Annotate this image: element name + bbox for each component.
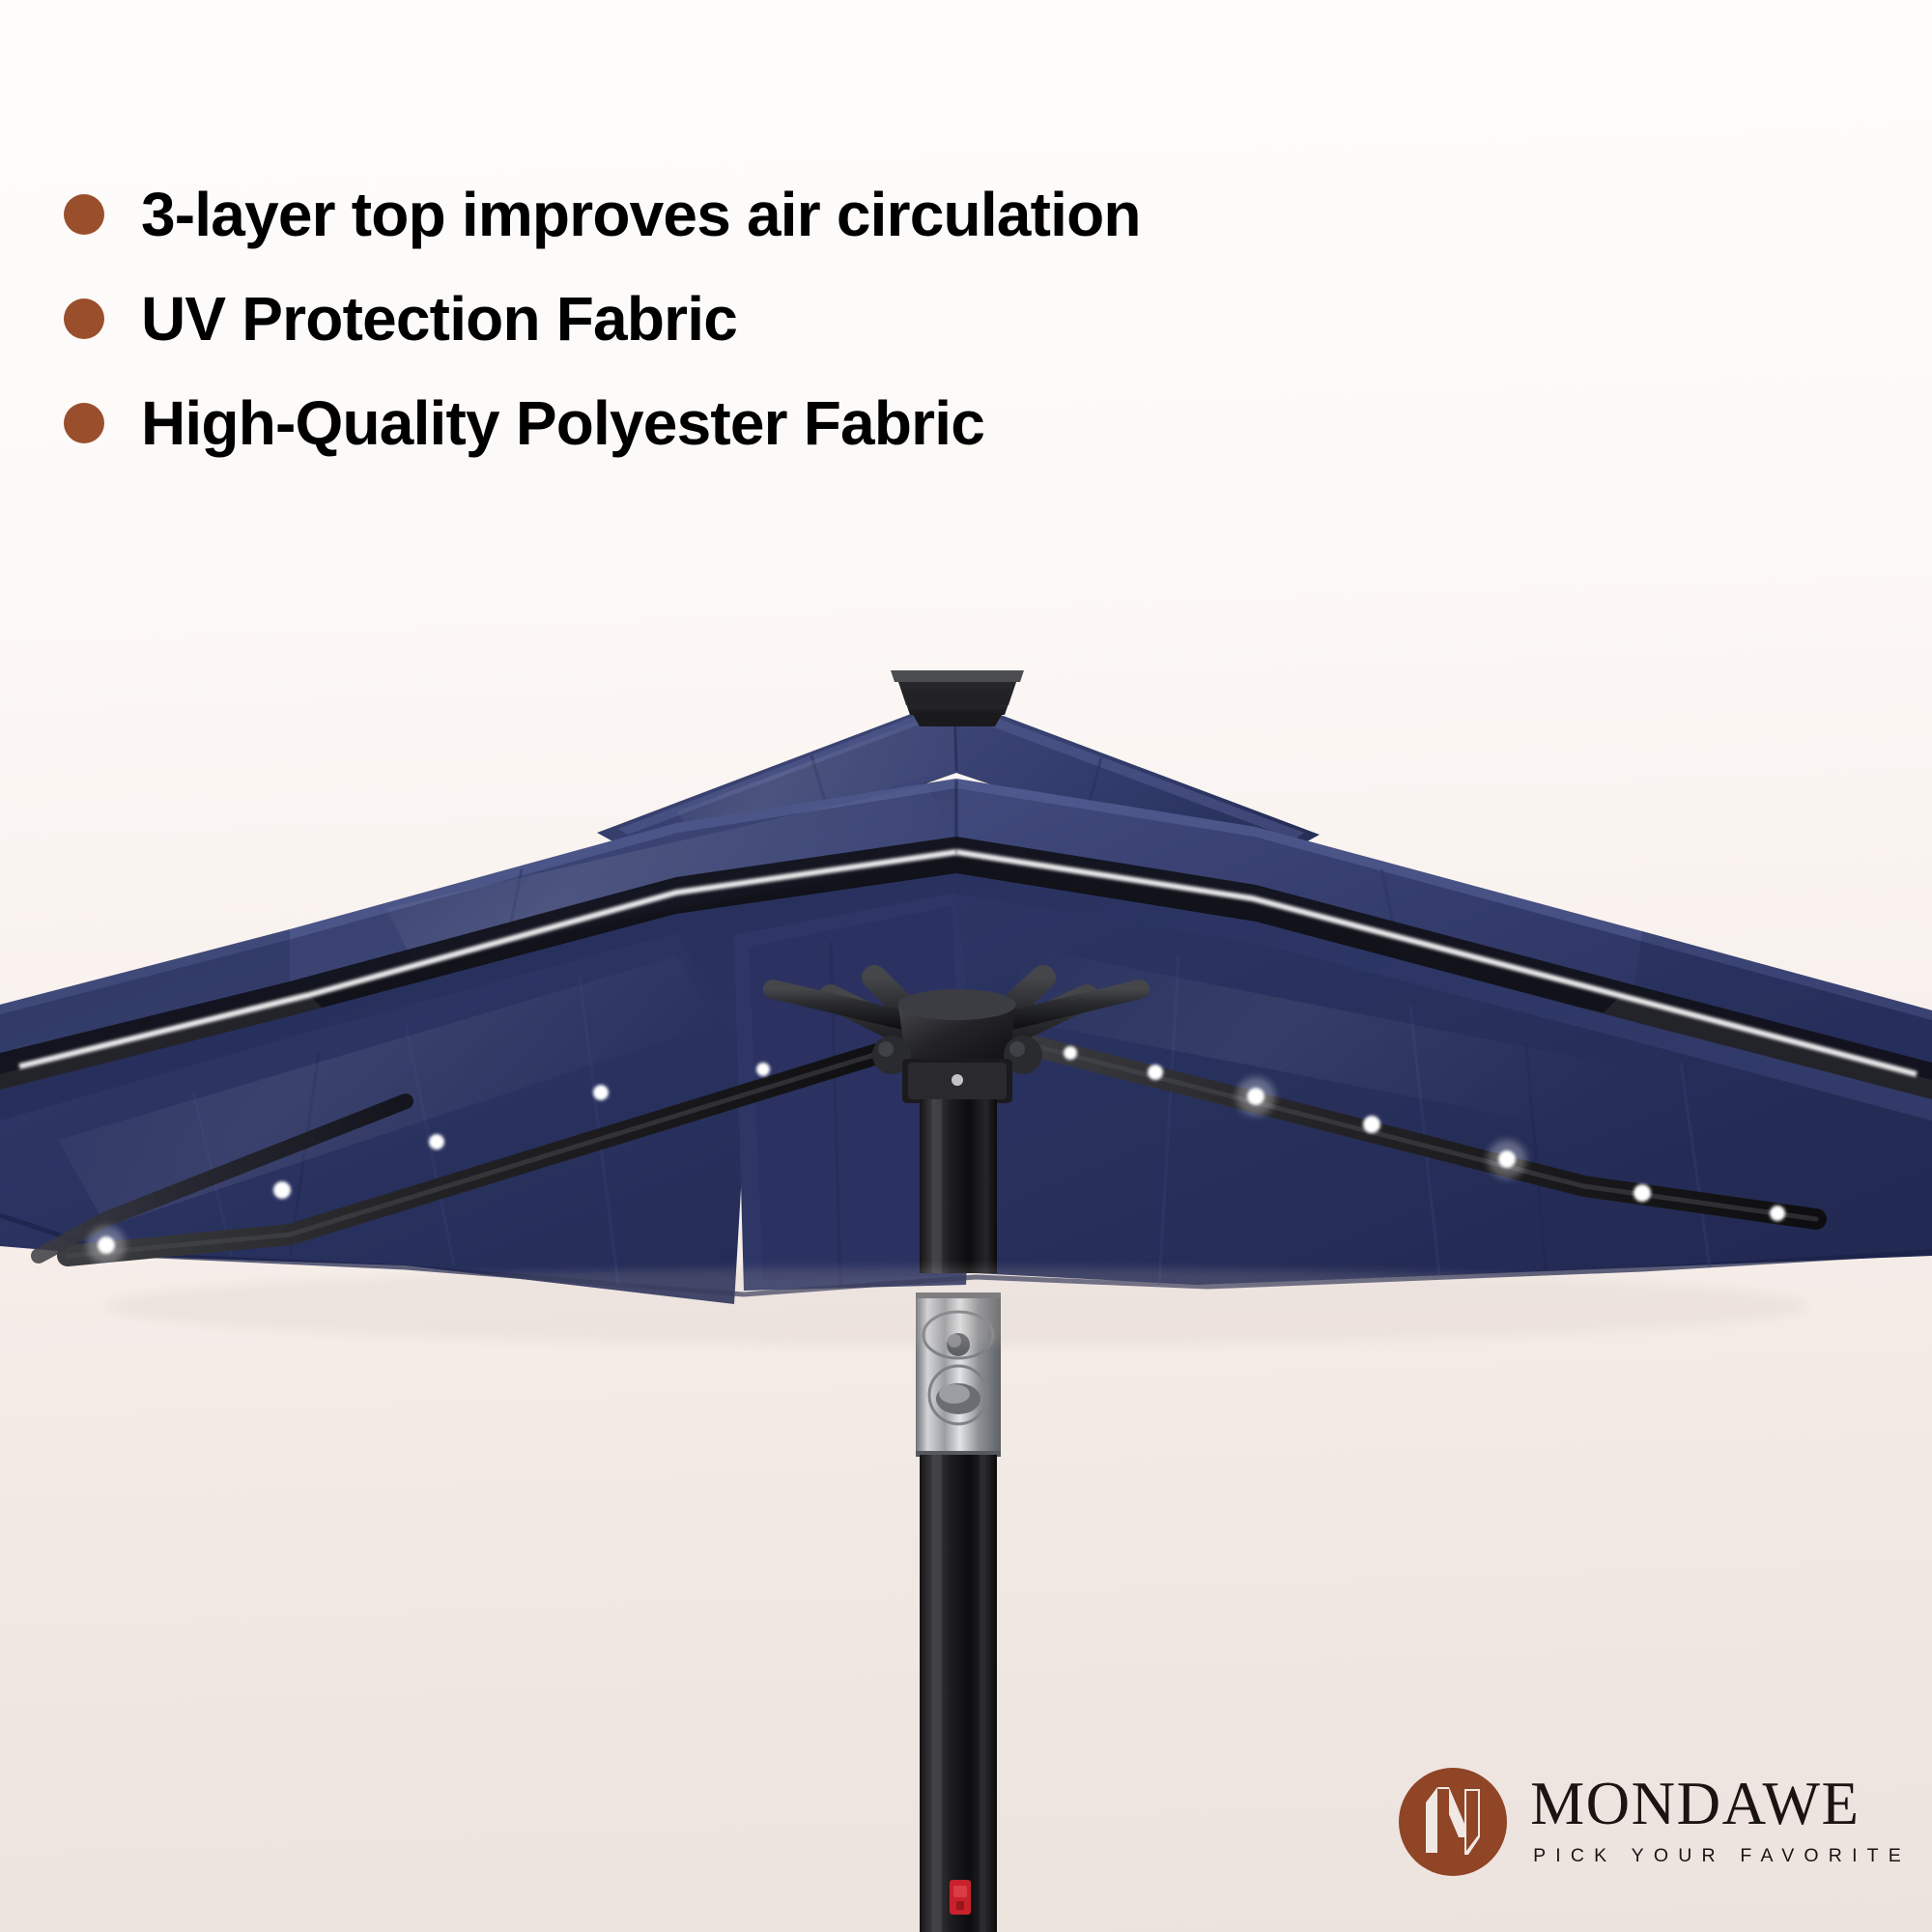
brand-wordmark: MONDAWE (1530, 1775, 1911, 1834)
feature-item: 3-layer top improves air circulation (60, 162, 1509, 267)
logo-text-block: MONDAWE PICK YOUR FAVORITE (1530, 1775, 1911, 1869)
mondawe-monogram-icon (1399, 1768, 1507, 1876)
feature-item: High-Quality Polyester Fabric (60, 371, 1509, 475)
feature-label: 3-layer top improves air circulation (141, 184, 1141, 245)
product-feature-image: 3-layer top improves air circulation UV … (0, 0, 1932, 1932)
bullet-dot-icon (64, 194, 104, 235)
feature-label: High-Quality Polyester Fabric (141, 392, 984, 454)
feature-bullet-list: 3-layer top improves air circulation UV … (60, 162, 1509, 475)
feature-item: UV Protection Fabric (60, 267, 1509, 371)
umbrella-pole (916, 1099, 1001, 1932)
brand-tagline: PICK YOUR FAVORITE (1530, 1847, 1911, 1866)
bullet-dot-icon (64, 298, 104, 339)
bullet-dot-icon (64, 403, 104, 443)
brand-logo: MONDAWE PICK YOUR FAVORITE (1399, 1768, 1911, 1876)
feature-label: UV Protection Fabric (141, 288, 737, 350)
